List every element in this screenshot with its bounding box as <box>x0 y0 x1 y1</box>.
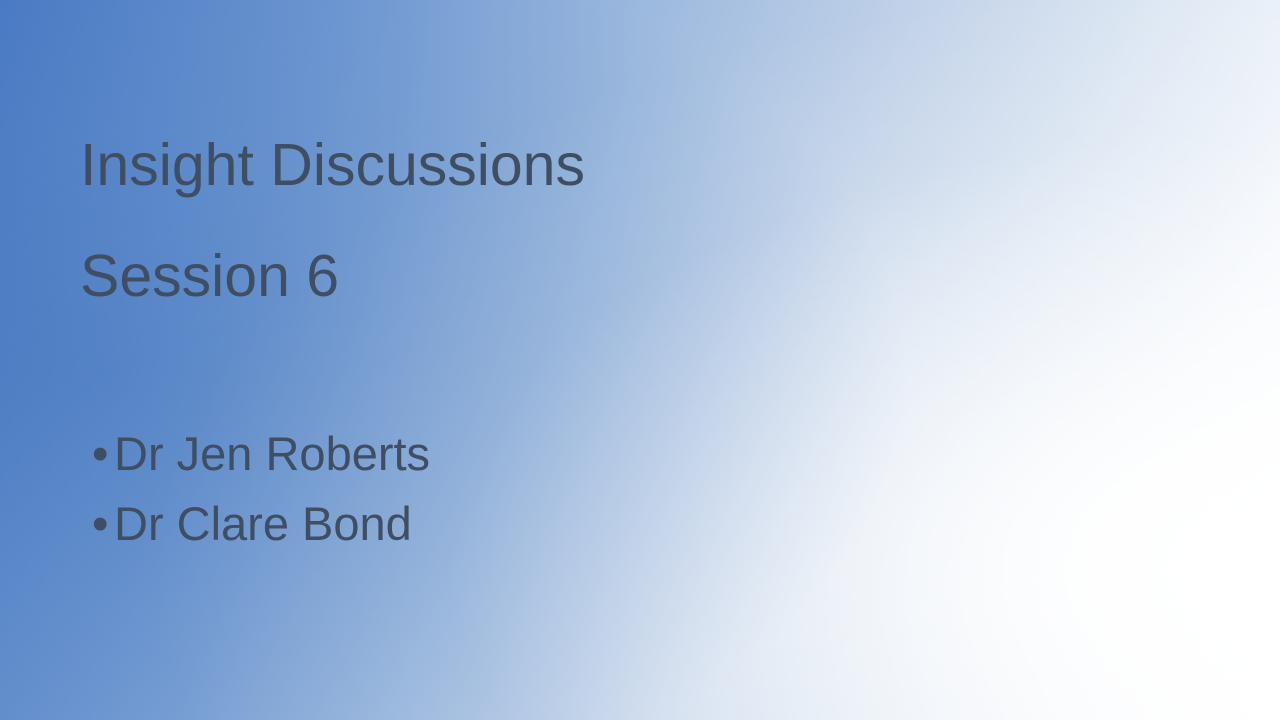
list-item-label: Dr Clare Bond <box>114 495 412 552</box>
bullet-point-icon: • <box>92 495 114 552</box>
list-item: • Dr Jen Roberts <box>92 425 1182 482</box>
bullet-point-icon: • <box>92 425 114 482</box>
list-item: • Dr Clare Bond <box>92 495 1182 552</box>
slide-title: Insight Discussions Session 6 <box>80 130 1170 313</box>
title-line-1: Insight Discussions <box>80 130 1170 202</box>
presentation-slide: Insight Discussions Session 6 • Dr Jen R… <box>0 0 1280 720</box>
title-line-2: Session 6 <box>80 241 1170 313</box>
list-item-label: Dr Jen Roberts <box>114 425 430 482</box>
bullet-list: • Dr Jen Roberts • Dr Clare Bond <box>92 425 1182 566</box>
